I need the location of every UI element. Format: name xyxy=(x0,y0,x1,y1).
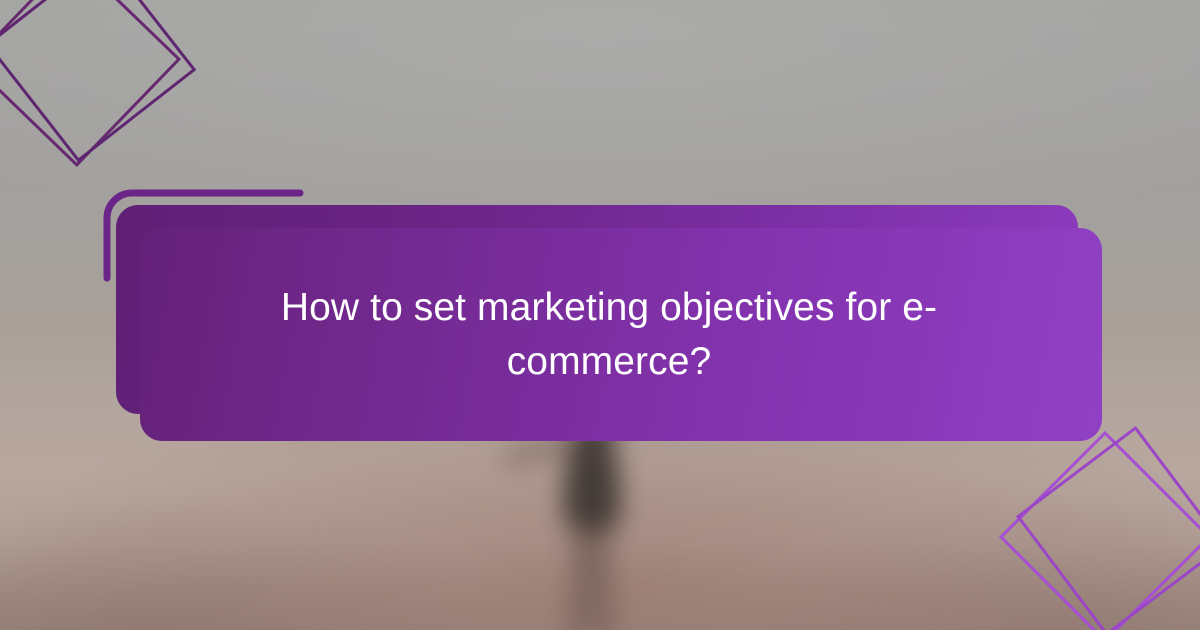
title-card-front-layer: How to set marketing objectives for e-co… xyxy=(140,228,1102,441)
page-title: How to set marketing objectives for e-co… xyxy=(259,281,959,389)
bottom-right-squares-decoration xyxy=(1000,436,1200,630)
top-left-squares-decoration xyxy=(0,0,226,206)
silhouette-leg-right xyxy=(593,524,613,630)
blurred-person-silhouette xyxy=(500,420,690,630)
rotated-square-icon xyxy=(0,0,196,162)
social-card-canvas: How to set marketing objectives for e-co… xyxy=(0,0,1200,630)
silhouette-torso xyxy=(564,434,620,538)
rotated-square-icon xyxy=(1016,426,1200,630)
silhouette-leg-left xyxy=(571,524,591,630)
